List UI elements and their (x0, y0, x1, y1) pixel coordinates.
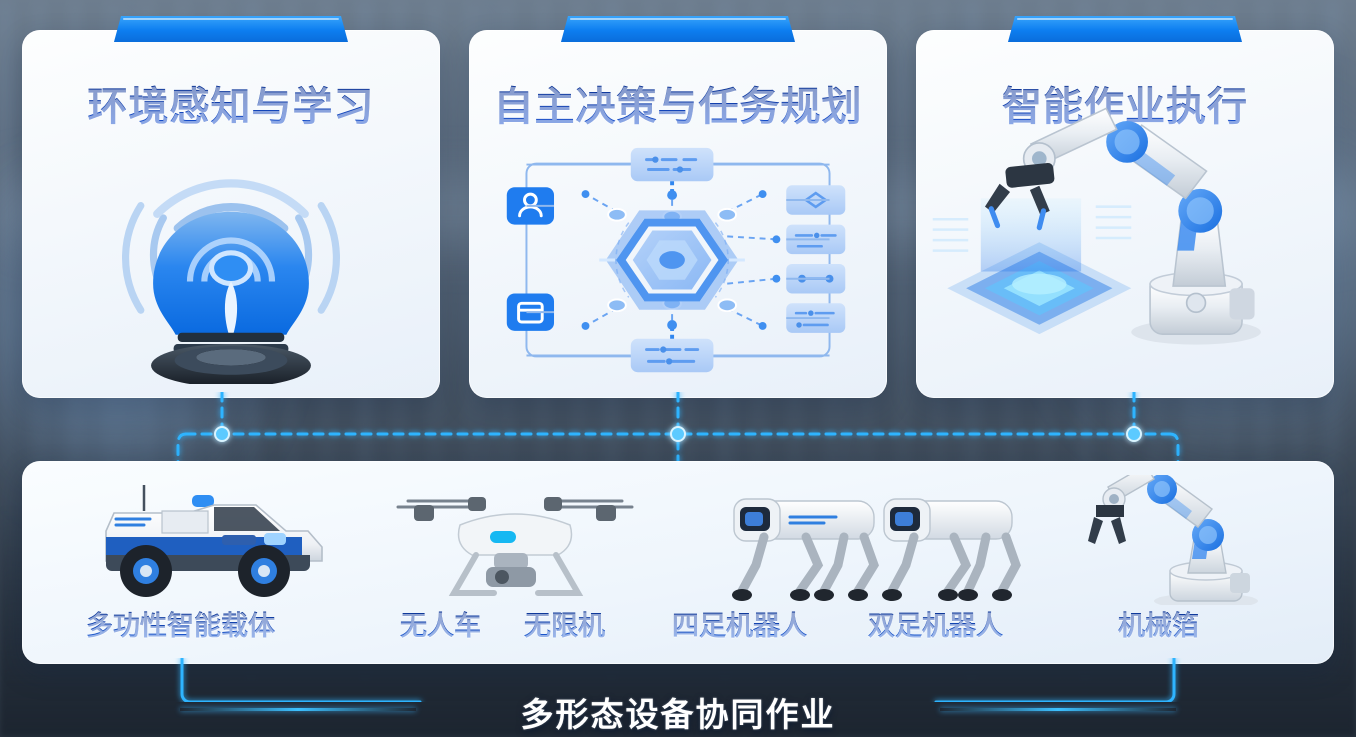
device-label-4: 双足机器人 (868, 604, 1003, 643)
signal-bulb-icon (22, 138, 440, 384)
card-title-1: 环境感知与学习 (22, 74, 440, 132)
hologram-plate (933, 198, 1132, 334)
drone-icon (390, 477, 640, 605)
card-environment-perception[interactable]: 环境感知与学习 (22, 30, 440, 398)
card-art-1 (22, 138, 440, 384)
device-label-2: 无限机 (524, 604, 605, 643)
card-tab-2 (561, 16, 795, 42)
footer-caption-row: 多形态设备协同作业 (0, 686, 1356, 737)
card-intelligent-execution[interactable]: 智能作业执行 (916, 30, 1334, 398)
hexagon-network-diagram-icon (469, 138, 887, 384)
device-label-3: 四足机器人 (672, 604, 807, 643)
quadruped-robot-icon (712, 479, 1042, 605)
connector-node-right (1127, 427, 1141, 441)
card-title-2: 自主决策与任务规划 (469, 74, 887, 132)
footer-caption: 多形态设备协同作业 (521, 688, 836, 736)
device-illustrations (22, 465, 1334, 605)
device-label-5: 机械箔 (1118, 604, 1199, 643)
connector-node-center (671, 427, 685, 441)
device-labels: 多功性智能载体 无人车 无限机 四足机器人 双足机器人 机械箔 (0, 604, 1356, 644)
card-autonomous-decision[interactable]: 自主决策与任务规划 (469, 30, 887, 398)
connector-node-left (215, 427, 229, 441)
device-label-0: 多功性智能载体 (86, 604, 275, 643)
device-label-1: 无人车 (400, 604, 481, 643)
capability-cards-row: 环境感知与学习 (22, 30, 1334, 398)
card-art-2 (469, 138, 887, 384)
infographic-stage: 环境感知与学习 (0, 0, 1356, 737)
quadruped-robot-2 (882, 499, 1016, 601)
footer-line-left (180, 708, 416, 711)
quadruped-robot-1 (732, 499, 874, 601)
footer-line-right (940, 708, 1176, 711)
card-tab-1 (114, 16, 348, 42)
card-art-3 (916, 30, 1334, 398)
robot-arm-icon (1080, 475, 1300, 605)
ugv-truck-icon (74, 475, 334, 605)
robot-arm-hologram-icon (916, 30, 1334, 398)
